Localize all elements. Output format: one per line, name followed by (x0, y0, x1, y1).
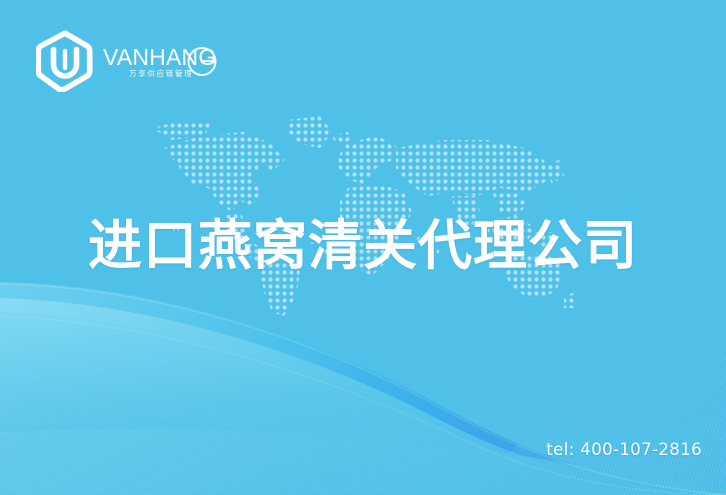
brand-wordmark: VANHANG 万享供应链管理 (103, 41, 221, 81)
vanhang-hexagon-icon (36, 30, 94, 92)
contact-phone[interactable]: tel: 400-107-2816 (546, 440, 702, 459)
logo-chinese-text: 万享供应链管理 (129, 68, 193, 78)
logo-latin-text: VANHANG (103, 44, 216, 70)
brand-logo[interactable]: VANHANG 万享供应链管理 (36, 30, 221, 92)
marketing-banner: VANHANG 万享供应链管理 进口燕窝清关代理公司 tel: 400-107-… (0, 0, 726, 495)
page-title: 进口燕窝清关代理公司 (0, 210, 726, 282)
